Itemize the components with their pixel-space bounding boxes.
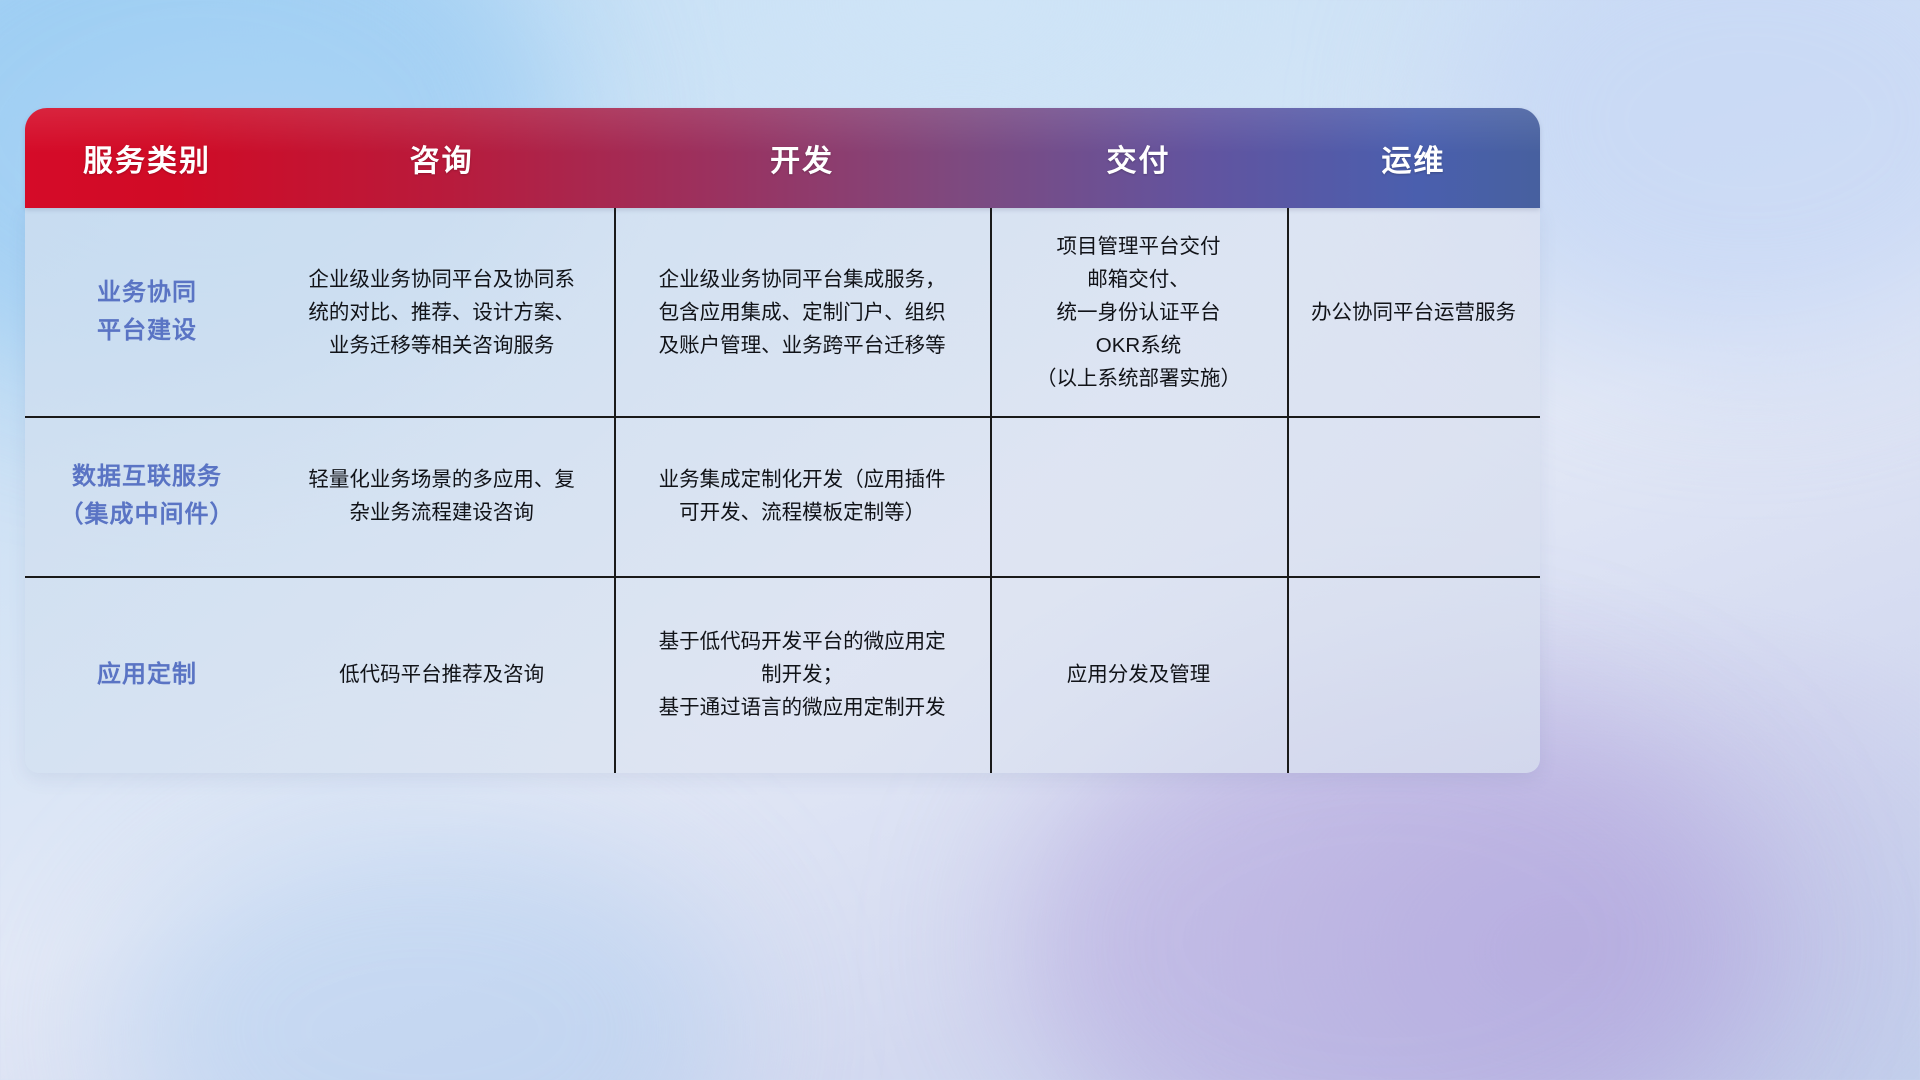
column-header-service-category: 服务类别 <box>25 108 269 208</box>
cell-consulting: 轻量化业务场景的多应用、复 杂业务流程建设咨询 <box>269 416 614 576</box>
cell-development: 业务集成定制化开发（应用插件 可开发、流程模板定制等） <box>614 416 990 576</box>
cell-text: 基于低代码开发平台的微应用定 制开发； 基于通过语言的微应用定制开发 <box>659 625 946 724</box>
row-label-text: 应用定制 <box>97 656 197 694</box>
column-header-label: 服务类别 <box>83 136 211 180</box>
cell-operations <box>1287 416 1540 576</box>
table-row: 数据互联服务 （集成中间件） 轻量化业务场景的多应用、复 杂业务流程建设咨询 业… <box>25 416 1540 576</box>
cell-operations <box>1287 576 1540 773</box>
row-label-business-collaboration: 业务协同 平台建设 <box>25 208 269 416</box>
column-header-consulting: 咨询 <box>269 108 614 208</box>
service-matrix-table: 服务类别 咨询 开发 交付 运维 业务协同 平台建设 企业级业务 <box>25 108 1540 773</box>
cell-text: 企业级业务协同平台集成服务， 包含应用集成、定制门户、组织 及账户管理、业务跨平… <box>659 263 946 362</box>
cell-text: 办公协同平台运营服务 <box>1311 296 1516 329</box>
cell-consulting: 低代码平台推荐及咨询 <box>269 576 614 773</box>
cell-text: 应用分发及管理 <box>1067 658 1211 691</box>
cell-delivery: 应用分发及管理 <box>990 576 1287 773</box>
column-header-label: 交付 <box>1107 136 1171 180</box>
cell-text: 业务集成定制化开发（应用插件 可开发、流程模板定制等） <box>659 463 946 529</box>
row-label-data-interconnect: 数据互联服务 （集成中间件） <box>25 416 269 576</box>
cell-text: 轻量化业务场景的多应用、复 杂业务流程建设咨询 <box>308 463 575 529</box>
column-header-label: 咨询 <box>410 136 474 180</box>
column-header-operations: 运维 <box>1287 108 1540 208</box>
cell-text: 低代码平台推荐及咨询 <box>339 658 544 691</box>
cell-development: 基于低代码开发平台的微应用定 制开发； 基于通过语言的微应用定制开发 <box>614 576 990 773</box>
table-body: 业务协同 平台建设 企业级业务协同平台及协同系 统的对比、推荐、设计方案、 业务… <box>25 208 1540 773</box>
cell-operations: 办公协同平台运营服务 <box>1287 208 1540 416</box>
table-row: 应用定制 低代码平台推荐及咨询 基于低代码开发平台的微应用定 制开发； 基于通过… <box>25 576 1540 773</box>
cell-delivery: 项目管理平台交付 邮箱交付、 统一身份认证平台 OKR系统 （以上系统部署实施） <box>990 208 1287 416</box>
row-label-text: 数据互联服务 （集成中间件） <box>59 458 234 534</box>
table-header-row: 服务类别 咨询 开发 交付 运维 <box>25 108 1540 208</box>
column-header-delivery: 交付 <box>990 108 1287 208</box>
column-header-label: 运维 <box>1381 136 1445 180</box>
cell-development: 企业级业务协同平台集成服务， 包含应用集成、定制门户、组织 及账户管理、业务跨平… <box>614 208 990 416</box>
row-label-text: 业务协同 平台建设 <box>97 274 197 350</box>
service-matrix-table-wrapper: 服务类别 咨询 开发 交付 运维 业务协同 平台建设 企业级业务 <box>25 108 1540 773</box>
column-header-label: 开发 <box>770 136 834 180</box>
cell-delivery <box>990 416 1287 576</box>
cell-text: 项目管理平台交付 邮箱交付、 统一身份认证平台 OKR系统 （以上系统部署实施） <box>1036 230 1241 395</box>
cell-consulting: 企业级业务协同平台及协同系 统的对比、推荐、设计方案、 业务迁移等相关咨询服务 <box>269 208 614 416</box>
cell-text: 企业级业务协同平台及协同系 统的对比、推荐、设计方案、 业务迁移等相关咨询服务 <box>308 263 575 362</box>
column-header-development: 开发 <box>614 108 990 208</box>
background-blob-bottom-left <box>115 820 735 1080</box>
table-row: 业务协同 平台建设 企业级业务协同平台及协同系 统的对比、推荐、设计方案、 业务… <box>25 208 1540 416</box>
row-label-app-customization: 应用定制 <box>25 576 269 773</box>
